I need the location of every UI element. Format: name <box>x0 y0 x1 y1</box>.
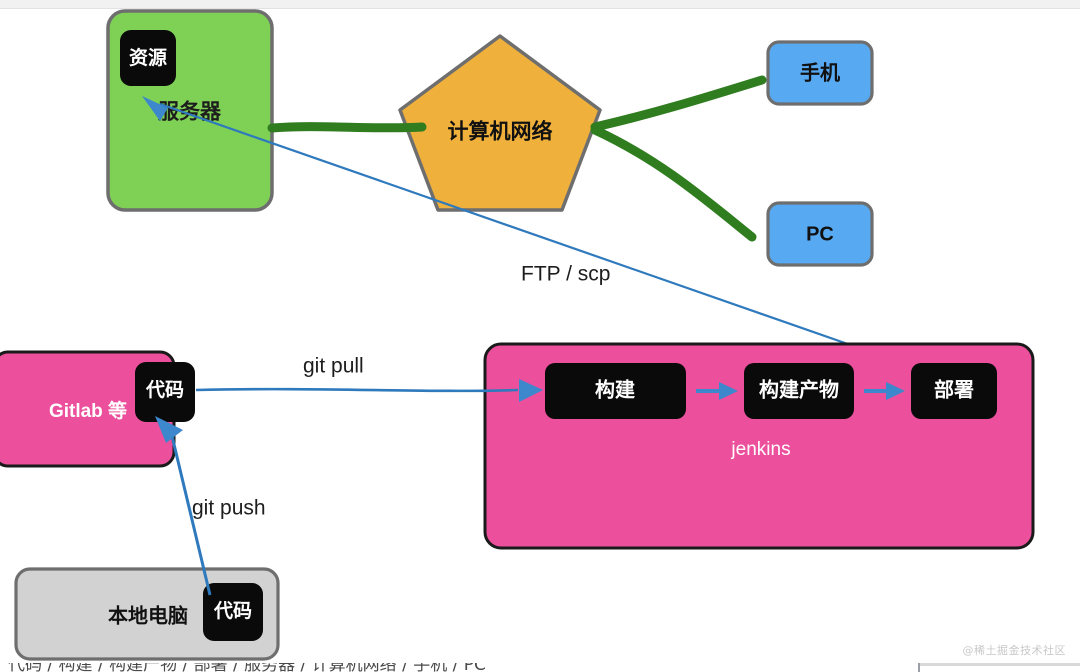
phone-label: 手机 <box>800 60 840 84</box>
resource-label: 资源 <box>129 46 167 69</box>
architecture-diagram: 服务器 资源 计算机网络 手机 PC <box>0 0 1080 672</box>
node-phone[interactable]: 手机 <box>768 42 872 104</box>
bottom-clipped-text: 代码 / 构建 / 构建产物 / 部署 / 服务器 / 计算机网络 / 手机 /… <box>8 663 486 672</box>
node-build[interactable]: 构建 <box>545 363 686 419</box>
network-label: 计算机网络 <box>448 120 553 144</box>
local-pc-label: 本地电脑 <box>108 603 188 627</box>
network-pc-line <box>595 130 752 237</box>
edge-network-pc <box>595 130 752 237</box>
diagram-canvas: 服务器 资源 计算机网络 手机 PC <box>0 0 1080 672</box>
server-network-line <box>272 127 422 128</box>
node-artifact[interactable]: 构建产物 <box>744 363 854 419</box>
jenkins-label: jenkins <box>730 439 790 460</box>
node-resource[interactable]: 资源 <box>120 30 176 86</box>
watermark: @稀土掘金技术社区 <box>963 642 1067 658</box>
node-deploy[interactable]: 部署 <box>911 363 997 419</box>
network-phone-line <box>595 80 762 127</box>
edge-network-phone <box>595 80 762 127</box>
build-label: 构建 <box>595 377 635 401</box>
bottom-scroll-rule <box>920 663 1080 666</box>
edge-server-network <box>272 127 422 128</box>
node-pc[interactable]: PC <box>768 203 872 265</box>
gitlab-label: Gitlab 等 <box>49 399 127 422</box>
git-pull-label: git pull <box>303 355 364 378</box>
bottom-scroll-tick <box>918 663 920 672</box>
local-code-label: 代码 <box>213 600 252 622</box>
pc-label: PC <box>806 223 834 245</box>
node-network[interactable]: 计算机网络 <box>400 36 600 210</box>
node-gitlab-code[interactable]: 代码 <box>135 362 195 422</box>
git-push-label: git push <box>192 497 266 520</box>
gitlab-code-label: 代码 <box>145 379 184 401</box>
bottom-clipped-strip: 代码 / 构建 / 构建产物 / 部署 / 服务器 / 计算机网络 / 手机 /… <box>0 663 1080 672</box>
node-local-code[interactable]: 代码 <box>203 583 263 641</box>
git-pull-line <box>196 389 518 391</box>
ftp-scp-label: FTP / scp <box>521 263 610 286</box>
server-label: 服务器 <box>158 100 222 124</box>
artifact-label: 构建产物 <box>759 377 839 401</box>
deploy-label: 部署 <box>934 377 974 401</box>
